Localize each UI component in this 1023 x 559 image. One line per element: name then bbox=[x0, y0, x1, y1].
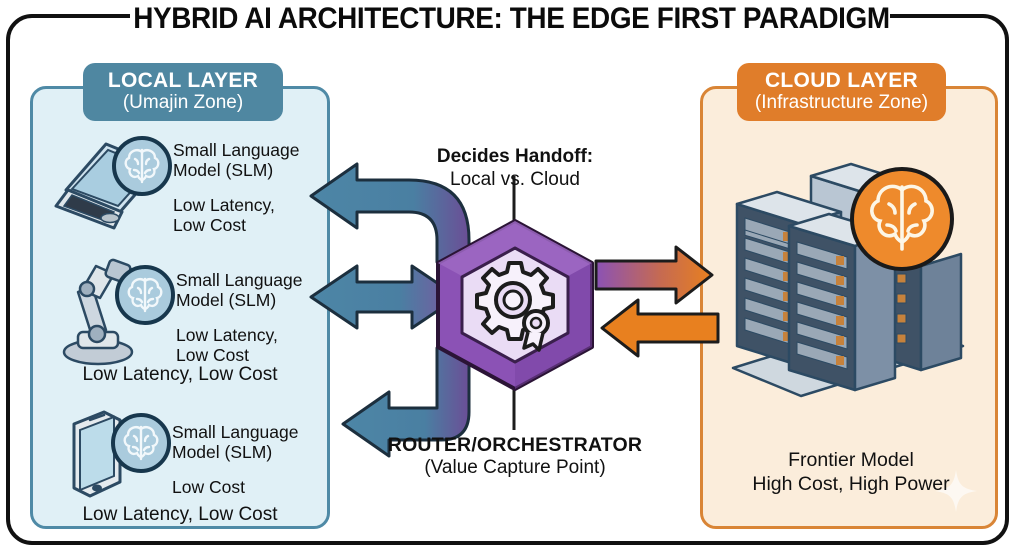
router-foot-line2: (Value Capture Point) bbox=[360, 457, 670, 480]
arrow-router-to-cloud bbox=[596, 247, 712, 303]
router-header: Decides Handoff: Local vs. Cloud bbox=[370, 146, 660, 192]
router-foot-line1: ROUTER/ORCHESTRATOR bbox=[360, 434, 670, 457]
router-footer: ROUTER/ORCHESTRATOR (Value Capture Point… bbox=[360, 434, 670, 480]
router-head-line1: Decides Handoff: bbox=[370, 146, 660, 169]
router-head-line2: Local vs. Cloud bbox=[370, 169, 660, 192]
router-hexagon[interactable] bbox=[432, 218, 598, 392]
arrow-cloud-to-router bbox=[602, 300, 718, 356]
